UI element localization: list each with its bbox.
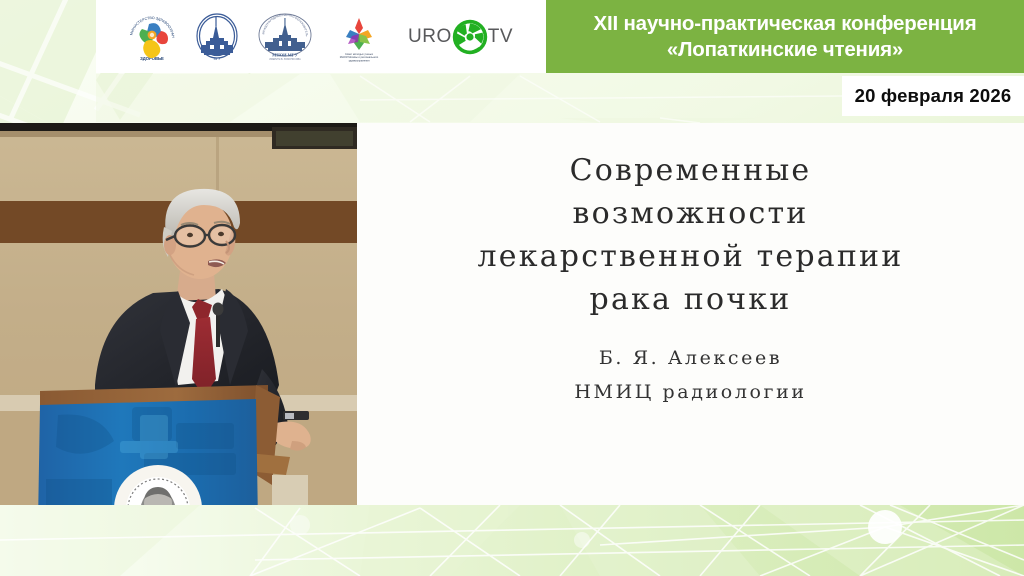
conference-title-line-2: «Лопаткинские чтения»	[667, 37, 903, 63]
slide-title-line-3: лекарственной терапии	[357, 235, 1024, 278]
minzdrav-roundel-logo: МИНИСТЕРСТВО ЗДРАВООХРАНЕНИЯ РФ ЗДОРОВЬЕ	[124, 9, 180, 65]
young-scientists-council-logo: Совет молодых ученых МНОИ Москвы и регио…	[330, 10, 388, 64]
urotv-word-right: TV	[488, 26, 513, 48]
slide-author: Б. Я. Алексеев	[357, 341, 1024, 375]
svg-text:МНОИ МГУ: МНОИ МГУ	[272, 52, 298, 57]
conference-title-line-1: XII научно-практическая конференция	[594, 11, 977, 37]
msu-spire-logo: МГУ	[194, 11, 240, 63]
urotv-leaf-mark	[451, 18, 489, 56]
conference-date-text: 20 февраля 2026	[855, 85, 1012, 107]
slide-affiliation: НМИЦ радиологии	[357, 375, 1024, 409]
slide-content-panel: Современные возможности лекарственной те…	[357, 123, 1024, 505]
speaker-video-feed[interactable]	[0, 123, 357, 505]
conference-date-chip: 20 февраля 2026	[842, 76, 1024, 116]
svg-text:МГУ: МГУ	[214, 57, 222, 61]
slide-title-line-4: рака почки	[357, 278, 1024, 321]
svg-text:ИМЕНИ М.В. ЛОМОНОСОВА: ИМЕНИ М.В. ЛОМОНОСОВА	[269, 58, 301, 61]
svg-text:здравоохранения: здравоохранения	[348, 59, 370, 62]
slide-title-line-1: Современные	[357, 149, 1024, 192]
svg-text:МЕЖДУНАРОДНЫЙ НАУЧНО-ОБРАЗОВАТ: МЕЖДУНАРОДНЫЙ НАУЧНО-ОБРАЗОВАТЕЛЬНЫЙ ИНС…	[254, 11, 309, 37]
slide-title: Современные возможности лекарственной те…	[357, 149, 1024, 321]
presentation-slide: МИНИСТЕРСТВО ЗДРАВООХРАНЕНИЯ РФ ЗДОРОВЬЕ	[0, 0, 1024, 576]
mnoi-mgu-logo: МЕЖДУНАРОДНЫЙ НАУЧНО-ОБРАЗОВАТЕЛЬНЫЙ ИНС…	[254, 11, 316, 63]
urotv-word-left: URO	[408, 26, 452, 48]
conference-title-banner: XII научно-практическая конференция «Лоп…	[546, 0, 1024, 73]
slide-byline: Б. Я. Алексеев НМИЦ радиологии	[357, 341, 1024, 409]
urotv-logo: URO TV	[408, 18, 513, 56]
slide-title-line-2: возможности	[357, 192, 1024, 235]
sponsor-logo-bar: МИНИСТЕРСТВО ЗДРАВООХРАНЕНИЯ РФ ЗДОРОВЬЕ	[96, 0, 546, 73]
